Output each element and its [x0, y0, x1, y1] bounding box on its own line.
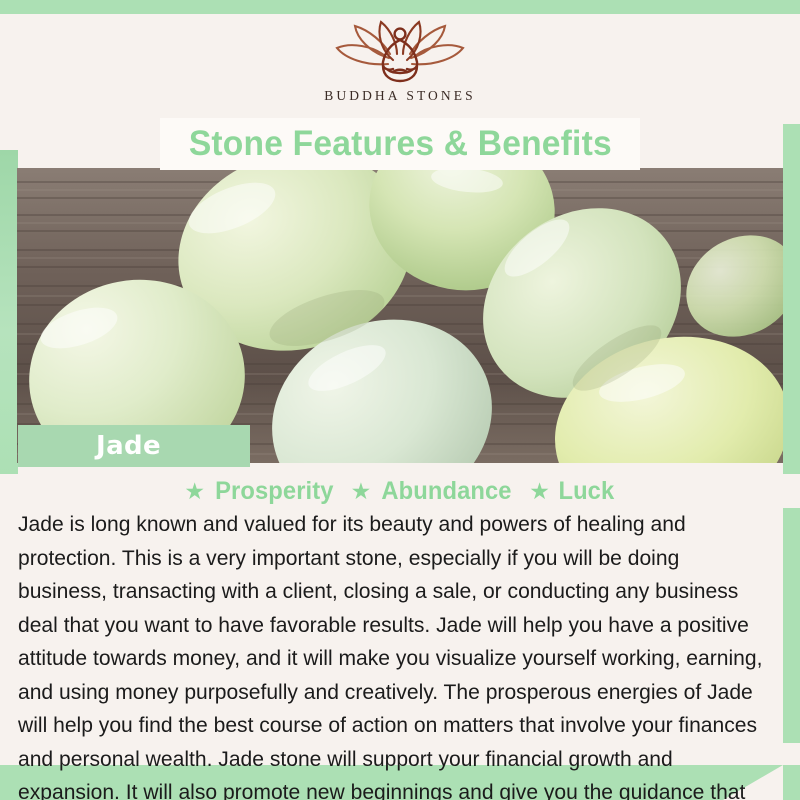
- brand-name: BUDDHA STONES: [324, 88, 475, 104]
- stone-name: Jade: [96, 431, 161, 461]
- brand-header: BUDDHA STONES: [0, 14, 800, 124]
- infographic-card: BUDDHA STONES: [0, 0, 800, 800]
- star-icon: ★: [529, 480, 550, 503]
- stone-photo: [17, 168, 783, 463]
- benefit-label: Luck: [558, 477, 614, 506]
- stone-description: Jade is long known and valued for its be…: [18, 508, 773, 800]
- benefit-item-prosperity: ★ Prosperity: [184, 477, 336, 506]
- benefit-label: Prosperity: [215, 477, 333, 506]
- page-title: Stone Features & Benefits: [188, 124, 611, 164]
- star-icon: ★: [184, 480, 205, 503]
- benefit-label: Abundance: [382, 477, 512, 506]
- benefits-row: ★ Prosperity ★ Abundance ★ Luck: [0, 474, 800, 508]
- benefit-item-luck: ★ Luck: [529, 477, 615, 506]
- star-icon: ★: [351, 480, 372, 503]
- top-green-border: [0, 0, 800, 14]
- stone-name-badge: Jade: [18, 425, 250, 467]
- benefit-item-abundance: ★ Abundance: [351, 477, 516, 506]
- title-banner: Stone Features & Benefits: [160, 118, 640, 170]
- left-green-border: [0, 150, 18, 480]
- lotus-meditation-icon: [325, 14, 475, 86]
- stone-photo-image: [17, 168, 783, 463]
